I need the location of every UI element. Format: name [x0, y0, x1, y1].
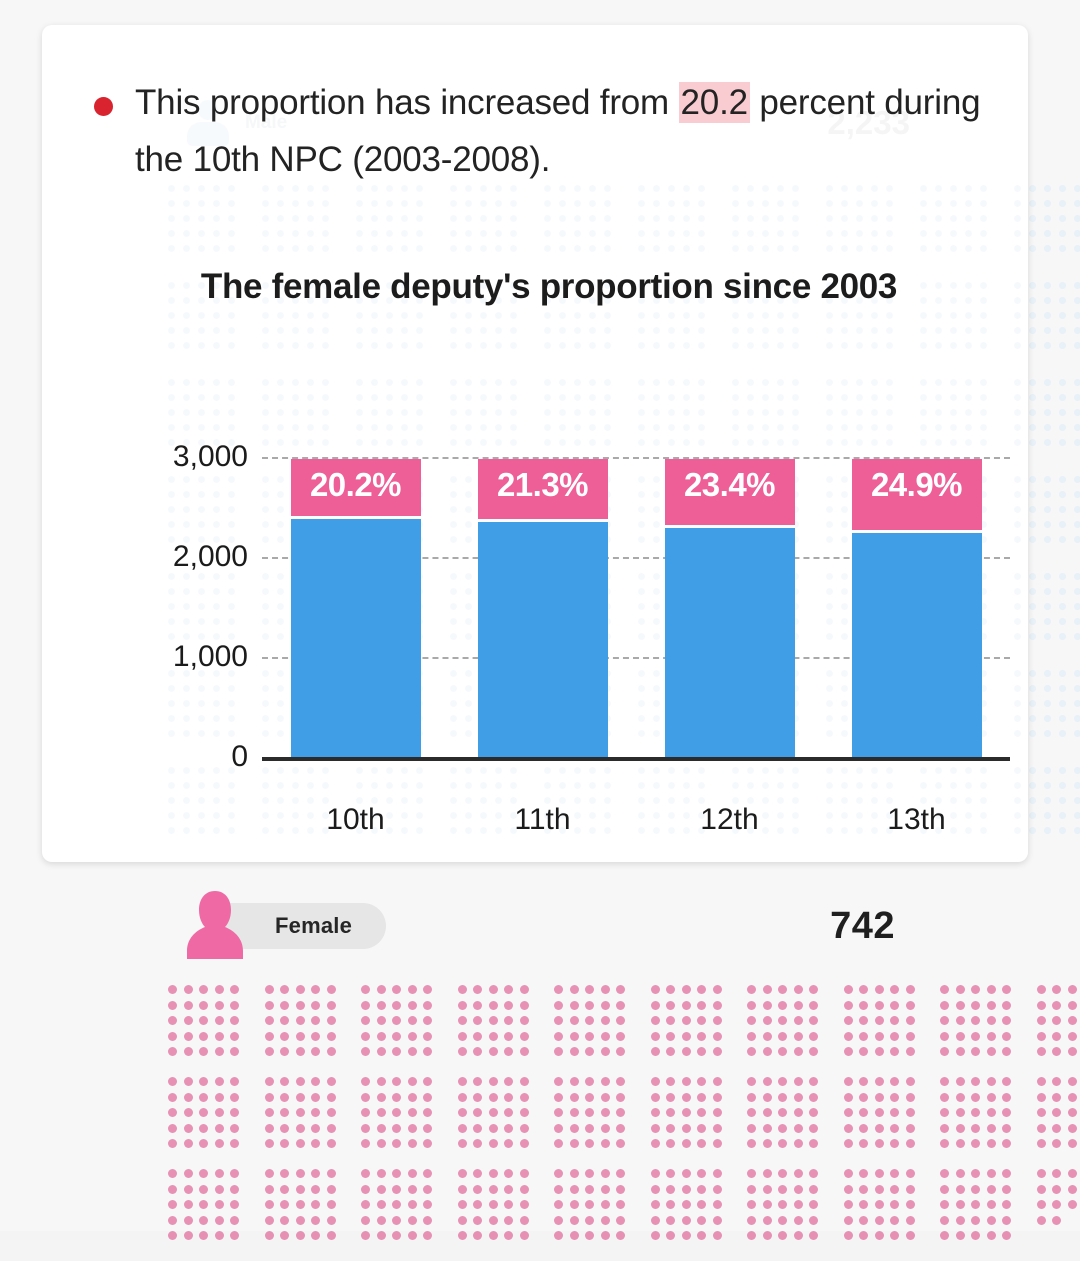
female-dot: [697, 1093, 706, 1102]
dot: [1074, 297, 1080, 304]
female-dot: [585, 1216, 594, 1225]
dot: [1029, 700, 1036, 707]
female-dot: [747, 985, 756, 994]
chart-bar[interactable]: 24.9%: [852, 459, 982, 758]
dot: [792, 230, 799, 237]
dot-block: [356, 185, 425, 254]
chart-bar-segment-female[interactable]: 24.9%: [852, 459, 982, 534]
dot: [213, 215, 220, 222]
dot: [777, 327, 784, 334]
female-dot: [778, 1169, 787, 1178]
dot: [401, 342, 408, 349]
female-dot: [520, 1001, 529, 1010]
chart-bar[interactable]: 23.4%: [665, 459, 795, 758]
female-dot: [392, 1185, 401, 1194]
dot: [886, 409, 893, 416]
dot: [544, 312, 551, 319]
female-dot: [906, 1231, 915, 1240]
female-dot: [230, 1047, 239, 1056]
dot: [465, 379, 472, 386]
dot: [920, 215, 927, 222]
dot: [1014, 618, 1021, 625]
female-dot: [713, 1032, 722, 1041]
female-dot: [215, 1124, 224, 1133]
female-dot: [890, 1077, 899, 1086]
dot: [826, 245, 833, 252]
female-dot: [199, 1032, 208, 1041]
dot: [698, 379, 705, 386]
female-dot: [971, 1032, 980, 1041]
female-dot: [616, 1108, 625, 1117]
female-dot: [168, 1169, 177, 1178]
female-dot: [763, 1077, 772, 1086]
dot: [732, 394, 739, 401]
dot: [1014, 394, 1021, 401]
female-dot: [199, 1169, 208, 1178]
dot: [826, 379, 833, 386]
female-dot: [504, 1108, 513, 1117]
female-dot: [570, 1016, 579, 1025]
dot: [935, 215, 942, 222]
female-dot: [327, 1169, 336, 1178]
chart-bar-segment-male[interactable]: [478, 522, 608, 757]
female-dot: [408, 1124, 417, 1133]
dot: [871, 230, 878, 237]
dot: [1059, 439, 1066, 446]
female-dot: [361, 1001, 370, 1010]
dot: [668, 342, 675, 349]
female-dot: [956, 985, 965, 994]
dot-block: [450, 185, 519, 254]
female-dot: [570, 985, 579, 994]
dot: [777, 342, 784, 349]
dot: [1059, 827, 1066, 834]
female-dot: [906, 1169, 915, 1178]
female-dot: [971, 1216, 980, 1225]
female-dot: [971, 985, 980, 994]
dot: [277, 394, 284, 401]
female-dot: [458, 1231, 467, 1240]
female-dot: [473, 1185, 482, 1194]
female-dot: [423, 1093, 432, 1102]
dot: [589, 409, 596, 416]
dot: [653, 409, 660, 416]
dot: [604, 342, 611, 349]
female-dot: [520, 1032, 529, 1041]
dot: [841, 409, 848, 416]
dot: [1044, 767, 1051, 774]
dot: [228, 342, 235, 349]
female-dot: [1052, 1124, 1061, 1133]
female-dot: [713, 1108, 722, 1117]
female-dot: [987, 1047, 996, 1056]
female-dot: [215, 1200, 224, 1209]
female-dot: [809, 1077, 818, 1086]
female-dot: [280, 985, 289, 994]
dot: [732, 342, 739, 349]
dot: [1014, 685, 1021, 692]
chart-bar-segment-male[interactable]: [852, 533, 982, 757]
dot: [965, 200, 972, 207]
female-dot: [570, 1216, 579, 1225]
female-dot: [520, 1231, 529, 1240]
dot: [1014, 730, 1021, 737]
dot: [495, 379, 502, 386]
dot: [965, 230, 972, 237]
dot: [856, 379, 863, 386]
dot: [198, 379, 205, 386]
female-dot: [184, 1077, 193, 1086]
female-dot: [651, 1001, 660, 1010]
dot: [168, 394, 175, 401]
chart-bar-segment-female[interactable]: 23.4%: [665, 459, 795, 529]
dot: [638, 245, 645, 252]
dot: [980, 297, 987, 304]
dot: [950, 215, 957, 222]
dot: [292, 342, 299, 349]
female-dot: [809, 1016, 818, 1025]
female-dot-block: [1037, 1077, 1080, 1148]
female-dot: [184, 1108, 193, 1117]
dot: [401, 215, 408, 222]
dot: [371, 327, 378, 334]
dot: [1029, 827, 1036, 834]
female-dot: [199, 1185, 208, 1194]
dot: [1074, 394, 1080, 401]
female-dot: [651, 1093, 660, 1102]
dot: [1014, 700, 1021, 707]
female-dot: [794, 1077, 803, 1086]
female-dot: [778, 1077, 787, 1086]
female-dot: [473, 1124, 482, 1133]
female-dot: [1068, 1047, 1077, 1056]
female-dot: [697, 1231, 706, 1240]
dot: [292, 312, 299, 319]
female-dot: [940, 1032, 949, 1041]
female-dot: [1052, 1001, 1061, 1010]
dot: [183, 379, 190, 386]
dot: [826, 342, 833, 349]
female-dot: [554, 985, 563, 994]
female-dot: [940, 1216, 949, 1225]
dot: [495, 245, 502, 252]
female-dot: [585, 1047, 594, 1056]
dot: [653, 200, 660, 207]
female-dot: [280, 1047, 289, 1056]
female-dot: [713, 1016, 722, 1025]
dot: [1044, 685, 1051, 692]
female-dot: [778, 1216, 787, 1225]
female-dot: [265, 1124, 274, 1133]
dot: [1044, 670, 1051, 677]
dot: [1044, 588, 1051, 595]
dot: [826, 827, 833, 834]
dot: [480, 342, 487, 349]
female-dot: [458, 1047, 467, 1056]
dot: [559, 200, 566, 207]
dot: [228, 394, 235, 401]
female-dot: [280, 1093, 289, 1102]
female-dot: [520, 1216, 529, 1225]
dot: [277, 200, 284, 207]
female-dot: [327, 1093, 336, 1102]
dot: [792, 200, 799, 207]
female-dot: [844, 1124, 853, 1133]
female-dot-block: [844, 1077, 915, 1148]
female-dot: [504, 1139, 513, 1148]
female-dot: [763, 1047, 772, 1056]
dot: [292, 394, 299, 401]
chart-bar-segment-female[interactable]: 21.3%: [478, 459, 608, 523]
dot: [356, 409, 363, 416]
chart-bar-segment-male[interactable]: [291, 519, 421, 757]
female-dot: [199, 1001, 208, 1010]
dot: [792, 394, 799, 401]
dot: [826, 230, 833, 237]
dot: [732, 215, 739, 222]
female-dot: [697, 1185, 706, 1194]
female-dot: [1068, 1016, 1077, 1025]
chart-x-tick-label: 10th: [291, 803, 421, 837]
female-dot: [859, 1032, 868, 1041]
dot: [1029, 424, 1036, 431]
dot: [732, 312, 739, 319]
dot: [1074, 185, 1080, 192]
female-dot: [473, 1200, 482, 1209]
dot: [465, 827, 472, 834]
female-dot: [809, 1047, 818, 1056]
female-dot: [554, 1077, 563, 1086]
female-dot: [311, 985, 320, 994]
dot: [416, 312, 423, 319]
chart-bar-segment-female[interactable]: 20.2%: [291, 459, 421, 520]
dot: [1014, 827, 1021, 834]
dot: [1014, 782, 1021, 789]
female-dot: [230, 1032, 239, 1041]
female-dot: [875, 1216, 884, 1225]
female-dot: [199, 1077, 208, 1086]
female-dot: [956, 1047, 965, 1056]
dot: [1059, 521, 1066, 528]
chart-bar-segment-male[interactable]: [665, 528, 795, 757]
female-dot: [230, 1200, 239, 1209]
dot: [683, 327, 690, 334]
female-dot: [1052, 1077, 1061, 1086]
dot: [1029, 327, 1036, 334]
female-dot: [666, 1077, 675, 1086]
dot: [1029, 200, 1036, 207]
female-dot: [875, 1032, 884, 1041]
female-dot: [859, 1001, 868, 1010]
dot: [168, 230, 175, 237]
dot: [762, 327, 769, 334]
dot: [198, 827, 205, 834]
dot: [698, 230, 705, 237]
dot: [653, 327, 660, 334]
dot: [841, 312, 848, 319]
female-dot: [956, 1108, 965, 1117]
female-dot: [570, 1032, 579, 1041]
dot: [653, 342, 660, 349]
dot: [1059, 588, 1066, 595]
female-dot: [1037, 1108, 1046, 1117]
female-dot: [601, 1016, 610, 1025]
dot: [1044, 491, 1051, 498]
dot: [668, 230, 675, 237]
chart-y-tick-label: 0: [231, 740, 248, 774]
female-dot: [296, 985, 305, 994]
dot: [762, 312, 769, 319]
dot: [228, 379, 235, 386]
female-dot: [473, 1231, 482, 1240]
dot: [1014, 506, 1021, 513]
female-dot: [473, 1016, 482, 1025]
dot: [747, 327, 754, 334]
dot: [1029, 603, 1036, 610]
dot: [168, 342, 175, 349]
female-dot: [1037, 1032, 1046, 1041]
dot: [668, 409, 675, 416]
dot: [1074, 379, 1080, 386]
dot: [183, 327, 190, 334]
dot: [1044, 185, 1051, 192]
dot: [935, 327, 942, 334]
female-dot: [616, 1047, 625, 1056]
female-dot: [890, 1108, 899, 1117]
female-dot: [184, 1185, 193, 1194]
dot: [1029, 282, 1036, 289]
female-dot: [554, 1216, 563, 1225]
dot: [638, 327, 645, 334]
female-dot: [666, 1185, 675, 1194]
dot: [559, 379, 566, 386]
dot: [792, 312, 799, 319]
female-dot: [296, 1047, 305, 1056]
female-dot: [215, 1093, 224, 1102]
dot: [1029, 536, 1036, 543]
dot: [653, 312, 660, 319]
female-dot: [971, 1047, 980, 1056]
chart-bar[interactable]: 20.2%: [291, 459, 421, 758]
female-dot: [987, 1169, 996, 1178]
female-dot: [570, 1185, 579, 1194]
dot: [371, 379, 378, 386]
female-dot: [987, 1216, 996, 1225]
dot: [935, 200, 942, 207]
dot: [792, 245, 799, 252]
dot: [356, 200, 363, 207]
female-dot: [554, 1139, 563, 1148]
dot-block: [1014, 379, 1028, 448]
female-dot: [987, 1139, 996, 1148]
dot: [356, 230, 363, 237]
female-dot: [1037, 1216, 1046, 1225]
female-dot: [697, 1001, 706, 1010]
female-dot: [763, 1231, 772, 1240]
female-dot: [1037, 1047, 1046, 1056]
dot: [1014, 327, 1021, 334]
dot: [198, 327, 205, 334]
dot: [228, 200, 235, 207]
female-dot: [265, 1016, 274, 1025]
female-dot: [1002, 1016, 1011, 1025]
female-dot: [987, 985, 996, 994]
dot: [792, 342, 799, 349]
female-dot-block: [940, 1169, 1011, 1240]
female-dot: [570, 1139, 579, 1148]
female-dot: [987, 1124, 996, 1133]
dot: [574, 394, 581, 401]
dot: [277, 379, 284, 386]
female-dot: [778, 1093, 787, 1102]
female-dot: [1068, 1169, 1077, 1178]
dot: [559, 245, 566, 252]
dot: [228, 230, 235, 237]
female-dot: [489, 1032, 498, 1041]
dot: [559, 409, 566, 416]
female-dot-block: [940, 1077, 1011, 1148]
dot: [1014, 215, 1021, 222]
female-dot: [377, 1200, 386, 1209]
dot: [604, 200, 611, 207]
female-dot: [682, 985, 691, 994]
female-dot: [311, 1001, 320, 1010]
female-dot: [1068, 1185, 1077, 1194]
female-dot: [747, 1139, 756, 1148]
dot: [450, 200, 457, 207]
dot: [1044, 245, 1051, 252]
dot: [886, 215, 893, 222]
dot: [371, 342, 378, 349]
female-dot: [392, 1077, 401, 1086]
dot: [965, 215, 972, 222]
female-dot: [763, 1001, 772, 1010]
female-dot: [682, 1093, 691, 1102]
female-dot: [794, 1185, 803, 1194]
chart-bar[interactable]: 21.3%: [478, 459, 608, 758]
dot: [1059, 282, 1066, 289]
dot: [1044, 618, 1051, 625]
female-dot: [392, 1216, 401, 1225]
female-dot: [377, 1016, 386, 1025]
dot: [1029, 491, 1036, 498]
female-dot: [651, 1231, 660, 1240]
dot-block: [1014, 767, 1028, 836]
female-dot: [458, 1124, 467, 1133]
female-dot: [423, 1169, 432, 1178]
dot: [980, 379, 987, 386]
female-dot: [682, 1108, 691, 1117]
female-dot: [747, 1016, 756, 1025]
chart-x-tick-label: 11th: [478, 803, 608, 837]
dot: [1044, 700, 1051, 707]
dot: [1059, 312, 1066, 319]
dot: [668, 215, 675, 222]
dot: [401, 312, 408, 319]
female-dot: [408, 1032, 417, 1041]
female-dot: [651, 1124, 660, 1133]
dot: [307, 327, 314, 334]
dot: [965, 245, 972, 252]
dot: [322, 379, 329, 386]
dot: [950, 394, 957, 401]
female-dot: [875, 1047, 884, 1056]
female-dot: [844, 1093, 853, 1102]
female-dot: [601, 1001, 610, 1010]
dot: [510, 327, 517, 334]
female-dot: [570, 1108, 579, 1117]
female-dot: [585, 1093, 594, 1102]
